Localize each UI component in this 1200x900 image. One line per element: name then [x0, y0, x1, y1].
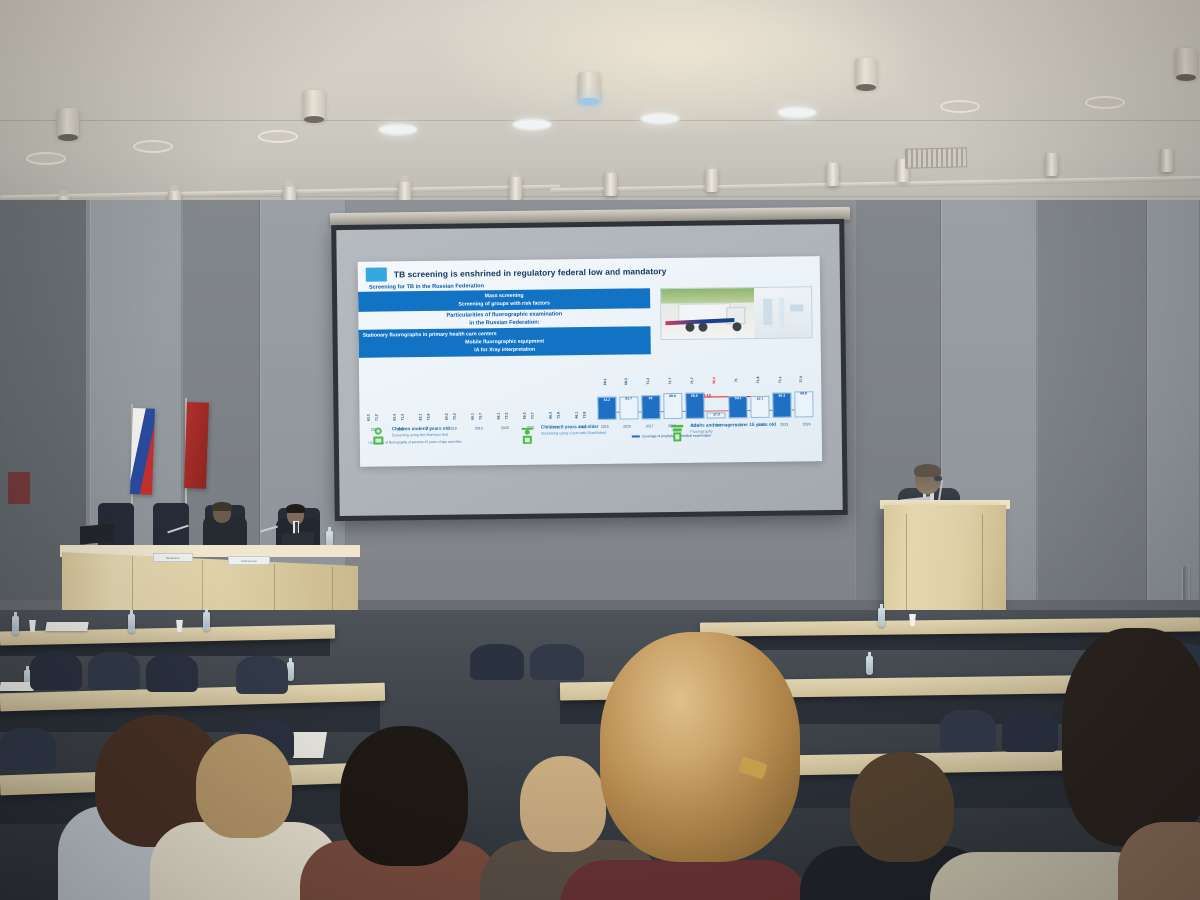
recessed-light-icon: [640, 112, 680, 125]
coverage-box: 57.7: [750, 396, 769, 418]
bar-value-label: 73.2: [452, 413, 456, 420]
bar-value-label: 66.1: [497, 413, 501, 420]
column-top-label: 68.1: [603, 378, 607, 385]
air-vent: [905, 147, 967, 169]
bar-value-label: 63.2: [445, 413, 449, 420]
audience-person-head: [340, 726, 468, 866]
ceiling: [0, 0, 1200, 215]
track-spotlight-icon: [1045, 152, 1058, 176]
track-spotlight-icon: [705, 168, 718, 192]
column-top-label: 71.7: [690, 377, 694, 384]
lighting-track: [0, 185, 560, 201]
bar-value-label: 73.2: [504, 413, 508, 420]
ceiling-downlight-icon: [303, 90, 325, 120]
audience-person-curly-head: [600, 632, 800, 862]
microphone-icon: [934, 476, 942, 481]
slide-age-legend: Children under 7 years old Screening usi…: [360, 421, 822, 461]
column-top-label: 71: [734, 378, 738, 382]
recessed-light-icon: [777, 106, 817, 119]
audience-person-head: [196, 734, 292, 838]
coverage-column: 71.768.8: [685, 385, 704, 419]
child-under-7-icon: [370, 426, 387, 446]
slide-title: TB screening is enshrined in regulatory …: [394, 266, 667, 279]
auditorium-seat: [88, 652, 140, 690]
bar-value-label: 66.3: [549, 412, 553, 419]
auditorium-seat: [30, 652, 82, 690]
recessed-light-icon: [512, 118, 552, 131]
track-spotlight-icon: [826, 162, 839, 186]
bar-value-label: 71.2: [374, 414, 378, 421]
water-bottle: [866, 656, 873, 675]
water-bottle: [128, 614, 135, 633]
coverage-box: 68.8: [685, 393, 704, 419]
auditorium-seat: [1002, 710, 1058, 752]
presentation-slide: TB screening is enshrined in regulatory …: [358, 256, 822, 467]
ceiling-downlight-icon: [855, 58, 877, 88]
coverage-column: 71.166.3: [772, 384, 791, 418]
track-spotlight-icon: [509, 176, 522, 200]
coverage-box: 66.3: [772, 393, 791, 418]
water-bottle: [203, 612, 210, 631]
nameplate-right: Chairperson: [228, 556, 270, 565]
coverage-column: 71.857.7: [750, 384, 769, 418]
bar-value-label: 73.7: [478, 413, 482, 420]
bar-value-label: 73.8: [556, 412, 560, 419]
coverage-box: 61.7: [619, 396, 638, 419]
handout: [45, 622, 88, 631]
conference-hall-photo: TB screening is enshrined in regulatory …: [0, 0, 1200, 900]
legend-subtitle: Screening using the Mantoux test: [392, 433, 450, 439]
coverage-column: 68.161.2: [597, 386, 616, 420]
panel-laptop: [80, 524, 114, 545]
water-bottle: [12, 616, 19, 635]
slide-header: TB screening is enshrined in regulatory …: [358, 256, 820, 284]
coverage-column: 71.263: [641, 385, 660, 419]
auditorium-seat: [236, 656, 288, 694]
coverage-box: 17.3: [707, 412, 726, 419]
bar-value-label: 66.1: [471, 413, 475, 420]
nameplate-left: Moderator: [153, 553, 193, 562]
bar-value-label: 73.8: [582, 412, 586, 419]
audience-person-shoulders: [560, 860, 810, 900]
recessed-light-icon: [26, 152, 66, 165]
column-top-label: 71.1: [778, 376, 782, 383]
coverage-column: 7159.1: [728, 384, 747, 418]
legend-subtitle: Fluorography: [690, 429, 776, 435]
auditorium-seat: [470, 644, 524, 680]
coverage-box: 68.9: [663, 393, 682, 419]
bar-value-label: 63.1: [419, 414, 423, 421]
water-bottle: [287, 662, 294, 681]
column-top-label: 68.3: [624, 378, 628, 385]
water-bottle: [878, 608, 885, 627]
panelist-right-hair: [286, 504, 305, 513]
legend-item: Children under 7 years old Screening usi…: [370, 425, 514, 461]
column-top-label: 36.2: [712, 377, 716, 384]
recessed-light-icon: [940, 100, 980, 113]
lighting-track: [550, 176, 1200, 194]
mobile-fluorography-truck-photo: [661, 288, 755, 339]
child-8-and-older-icon: [519, 425, 536, 445]
slide-band-two: Stationary fluorographs in primary healt…: [358, 326, 650, 358]
slide-photo: [660, 286, 813, 340]
slide-accent-square-icon: [366, 267, 387, 281]
legend-title: Children under 7 years old: [392, 426, 450, 433]
recessed-light-icon: [378, 123, 418, 136]
audience-person-head: [850, 752, 954, 862]
audience-person-head: [1062, 628, 1200, 846]
coverage-box: 69.8: [794, 391, 813, 417]
bar-value-label: 65.3: [523, 412, 527, 419]
projection-screen: TB screening is enshrined in regulatory …: [331, 219, 848, 521]
column-top-label: 77.3: [799, 376, 803, 383]
bar-value-label: 71.3: [400, 414, 404, 421]
track-spotlight-icon: [1160, 148, 1173, 172]
bar-value-label: 73.7: [530, 412, 534, 419]
auditorium-seat: [0, 728, 56, 770]
coverage-box: 63: [641, 396, 660, 420]
red-flag: [184, 402, 209, 489]
bar-value-label: 66.1: [575, 412, 579, 419]
ceiling-downlight-icon: [57, 108, 79, 138]
column-top-label: 71.2: [646, 378, 650, 385]
coverage-column: 71.768.9: [663, 385, 682, 419]
ceiling-downlight-icon: [1175, 48, 1197, 78]
legend-title: Children 8 years and older: [541, 424, 606, 431]
xray-room-photo: [754, 287, 812, 338]
audience-person-head: [520, 756, 606, 852]
recessed-light-icon: [133, 140, 173, 153]
coverage-column: 36.217.3: [707, 384, 726, 418]
bar-value-label: 73.8: [426, 414, 430, 421]
ceiling-downlight-icon: [578, 72, 600, 102]
coverage-column: 68.361.7: [619, 385, 638, 419]
exit-marker: [8, 472, 30, 504]
legend-subtitle: Screening using a test with Diaskintest: [541, 431, 606, 437]
russian-federation-flag: [130, 408, 155, 495]
column-top-label: 71.8: [756, 377, 760, 384]
recessed-light-icon: [1085, 96, 1125, 109]
track-spotlight-icon: [604, 172, 617, 196]
recessed-light-icon: [258, 130, 298, 143]
auditorium-seat: [530, 644, 584, 680]
audience-area: The Russian Public Health Science Forum …: [0, 610, 1200, 900]
legend-title: Adults and teenagers over 15 years old: [690, 422, 776, 429]
coverage-box: 59.1: [729, 396, 748, 418]
legend-item: Adults and teenagers over 15 years old F…: [668, 421, 812, 457]
slide-left-column: Screening for TB in the Russian Federati…: [358, 280, 651, 358]
auditorium-seat: [146, 654, 198, 692]
panelist-left-hair: [212, 502, 232, 511]
bar-value-label: 63.3: [393, 414, 397, 421]
bar-value-label: 63.3: [367, 414, 371, 421]
column-top-label: 71.7: [668, 378, 672, 385]
coverage-box: 61.2: [597, 397, 616, 420]
adults-teenagers-icon: [668, 423, 685, 443]
auditorium-seat: [940, 710, 996, 752]
legend-item: Children 8 years and older Screening usi…: [519, 423, 663, 459]
coverage-column: 77.369.8: [794, 383, 813, 417]
